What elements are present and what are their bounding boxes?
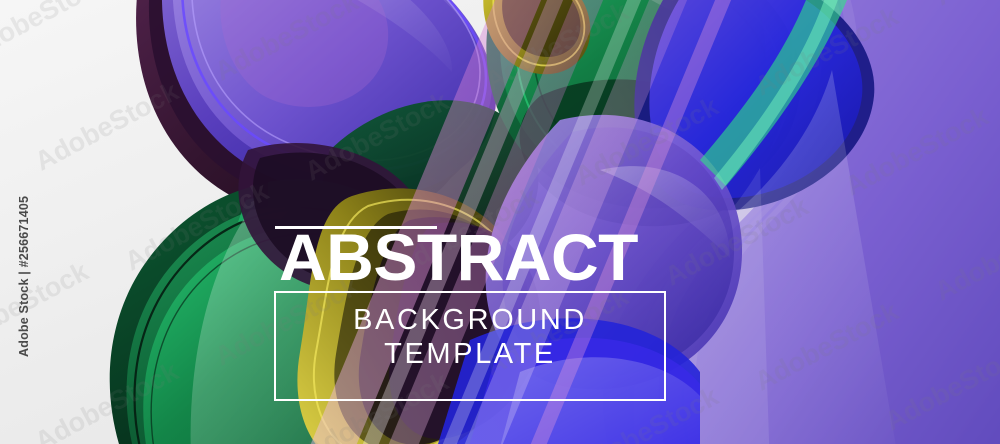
watermark-text: AdobeStock (300, 366, 454, 444)
watermark-text: AdobeStock (840, 101, 994, 202)
abstract-background-image: AdobeStockAdobeStockAdobeStockAdobeStock… (0, 0, 1000, 444)
watermark-text: AdobeStock (210, 271, 364, 372)
watermark-text: AdobeStock (880, 336, 1000, 437)
watermark-text: AdobeStock (0, 256, 94, 357)
stock-attribution-label: Adobe Stock | #256671405 (17, 197, 31, 357)
watermark-text: AdobeStock (750, 296, 904, 397)
watermark-text: AdobeStock (120, 176, 274, 277)
watermark-text: AdobeStock (480, 281, 634, 382)
watermark-text: AdobeStock (930, 0, 1000, 12)
watermark-text: AdobeStock (930, 206, 1000, 307)
watermark-text: AdobeStock (480, 0, 634, 97)
watermark-text: AdobeStock (210, 0, 364, 87)
watermark-text: AdobeStock (750, 1, 904, 102)
watermark-text: AdobeStock (30, 76, 184, 177)
watermark-text: AdobeStock (0, 116, 4, 217)
watermark-text: AdobeStock (0, 0, 114, 67)
watermark-text: AdobeStock (660, 191, 814, 292)
watermark-text: AdobeStock (660, 0, 814, 7)
watermark-text: AdobeStock (390, 181, 544, 282)
watermark-text: AdobeStock (570, 91, 724, 192)
watermark-layer: AdobeStockAdobeStockAdobeStockAdobeStock… (0, 0, 1000, 444)
watermark-text: AdobeStock (300, 86, 454, 187)
watermark-text: AdobeStock (30, 356, 184, 444)
watermark-text: AdobeStock (570, 381, 724, 444)
